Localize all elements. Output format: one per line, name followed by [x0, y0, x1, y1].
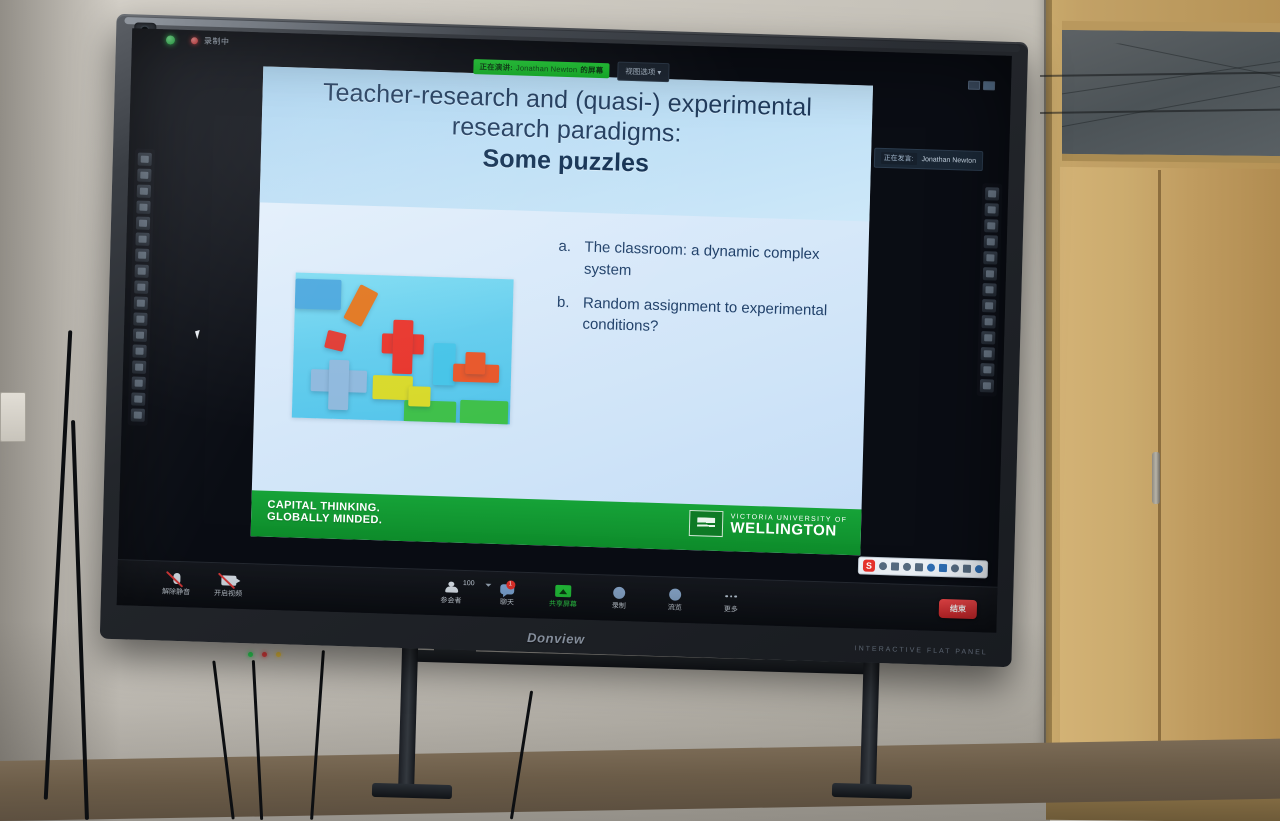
door-transom-window	[1062, 21, 1280, 163]
door-handle[interactable]	[1152, 452, 1160, 504]
puzzle-blocks-image	[292, 273, 514, 425]
ime-logo-icon[interactable]: S	[863, 560, 875, 572]
view-options-button[interactable]: 视图选项 ▾	[617, 62, 669, 83]
select-icon[interactable]	[983, 251, 997, 264]
share-screen-button[interactable]: 共享屏幕	[548, 584, 579, 610]
page-icon[interactable]	[981, 347, 995, 360]
arrow-icon[interactable]	[983, 267, 997, 280]
speaker-view-icon[interactable]	[968, 81, 980, 90]
zoom-toolbar-left: 解除静音 开启视频	[161, 571, 244, 599]
participants-label: 参会者	[440, 595, 461, 606]
chat-button[interactable]: 1 聊天	[492, 582, 523, 608]
puzzle-block	[392, 320, 413, 375]
university-name: VICTORIA UNIVERSITY OF WELLINGTON	[730, 513, 847, 539]
chat-label: 聊天	[500, 597, 514, 607]
door-leaf[interactable]	[1060, 167, 1280, 809]
left-toolbar-rail[interactable]	[128, 148, 155, 426]
speaking-status-label: 正在发言:	[880, 152, 916, 165]
save-icon[interactable]	[133, 312, 147, 325]
pen-icon[interactable]	[135, 264, 149, 277]
more-button[interactable]: 更多	[716, 589, 747, 615]
tagline-line2: GLOBALLY MINDED.	[267, 511, 382, 527]
text-icon[interactable]	[939, 564, 947, 572]
active-speaker-nametag: 正在发言: Jonathan Newton	[873, 148, 983, 171]
redo-icon[interactable]	[963, 565, 971, 573]
eraser-icon[interactable]	[915, 563, 923, 571]
university-crest-icon	[689, 510, 724, 537]
reactions-icon	[667, 587, 684, 601]
grid-icon[interactable]	[980, 363, 994, 376]
pen-icon[interactable]	[985, 203, 999, 216]
brand-logo: Donview	[527, 630, 585, 647]
shape-icon[interactable]	[927, 564, 935, 572]
chat-badge: 1	[506, 580, 515, 589]
zoom-toolbar-center: 100 参会者 1 聊天	[436, 580, 747, 615]
brand-sublabel: INTERACTIVE FLAT PANEL	[855, 645, 988, 656]
reactions-button[interactable]: 流览	[660, 587, 691, 613]
image-icon[interactable]	[982, 283, 996, 296]
bar-icon[interactable]	[131, 392, 145, 405]
camera-icon[interactable]	[134, 280, 148, 293]
microphone-muted-icon	[168, 572, 185, 586]
participants-icon: 100	[443, 580, 460, 594]
bullet-text: Random assignment to experimental condit…	[582, 292, 845, 344]
puzzle-block	[372, 375, 413, 400]
start-video-label: 开启视频	[214, 588, 242, 599]
speaker-name: Jonathan Newton	[921, 156, 976, 165]
interactive-flat-panel[interactable]: Donview INTERACTIVE FLAT PANEL 录制中 正在演讲:…	[100, 14, 1028, 667]
redo-icon[interactable]	[981, 331, 995, 344]
camera-off-icon	[220, 573, 237, 587]
pen-icon[interactable]	[891, 562, 899, 570]
door-frame-edge	[1044, 0, 1052, 792]
undo-icon[interactable]	[981, 315, 995, 328]
puzzle-block	[408, 386, 431, 407]
participants-count: 100	[463, 580, 475, 587]
eraser-icon[interactable]	[984, 219, 998, 232]
sharing-prefix: 正在演讲:	[479, 62, 513, 72]
puzzle-block	[465, 352, 486, 375]
stand-foot-right	[832, 783, 912, 799]
slide-bullet-list: a. The classroom: a dynamic complex syst…	[556, 236, 847, 356]
shared-slide: Teacher-research and (quasi-) experiment…	[251, 66, 873, 555]
puzzle-block	[460, 400, 509, 425]
wall-power-box	[0, 392, 26, 442]
window-icon[interactable]	[133, 328, 147, 341]
recording-icon[interactable]	[191, 37, 198, 44]
text-icon[interactable]	[132, 344, 146, 357]
capture-icon[interactable]	[137, 185, 151, 198]
eraser-icon[interactable]	[135, 248, 149, 261]
chat-icon: 1	[499, 582, 516, 596]
slide-footer: CAPITAL THINKING. GLOBALLY MINDED. VICTO…	[251, 490, 862, 555]
led-red	[262, 652, 267, 657]
clear-icon[interactable]	[975, 565, 983, 573]
return-icon[interactable]	[138, 153, 152, 166]
person-icon[interactable]	[134, 296, 148, 309]
record-button[interactable]: 录制	[604, 585, 635, 611]
move-icon[interactable]	[136, 201, 150, 214]
pen-icon[interactable]	[135, 232, 149, 245]
record-label: 录制	[612, 601, 626, 611]
sharing-presenter: Jonathan Newton	[516, 63, 578, 74]
puzzle-block	[328, 360, 349, 411]
grid-icon[interactable]	[132, 360, 146, 373]
panel-icon[interactable]	[131, 408, 145, 421]
puzzle-block	[324, 330, 347, 352]
select-icon[interactable]	[879, 562, 887, 570]
stand-foot-left	[372, 783, 452, 799]
start-video-button[interactable]: 开启视频	[213, 573, 244, 599]
unmute-button[interactable]: 解除静音	[161, 571, 192, 597]
participants-button[interactable]: 100 参会者	[436, 580, 467, 606]
more-icon	[722, 589, 739, 603]
slide-title: Teacher-research and (quasi-) experiment…	[289, 77, 845, 185]
university-logo: VICTORIA UNIVERSITY OF WELLINGTON	[689, 510, 847, 541]
highlighter-icon[interactable]	[903, 563, 911, 571]
share-screen-label: 共享屏幕	[549, 599, 577, 610]
list-icon[interactable]	[132, 376, 146, 389]
bullet-text: The classroom: a dynamic complex system	[584, 237, 847, 289]
university-name-large: WELLINGTON	[730, 520, 847, 539]
puzzle-block	[295, 279, 342, 310]
chevron-down-icon[interactable]	[485, 584, 491, 587]
undo-icon[interactable]	[951, 564, 959, 572]
sharing-banner-text: 正在演讲:Jonathan Newton的屏幕	[473, 59, 609, 78]
menu-icon[interactable]	[985, 187, 999, 200]
sharing-suffix: 的屏幕	[580, 65, 603, 75]
mouse-cursor	[195, 330, 202, 339]
pen-icon[interactable]	[136, 217, 150, 230]
share-screen-icon	[555, 584, 572, 598]
bullet-marker: b.	[556, 291, 571, 335]
connection-status-icon	[166, 35, 175, 44]
led-amber	[276, 652, 281, 657]
record-icon	[611, 586, 628, 600]
layer-icon[interactable]	[982, 299, 996, 312]
view-mode-buttons[interactable]	[968, 81, 995, 91]
display-screen[interactable]: 录制中 正在演讲:Jonathan Newton的屏幕 视图选项 ▾ 正在发言:…	[117, 28, 1012, 632]
zoom-toolbar-right: 结束	[939, 599, 977, 619]
unmute-label: 解除静音	[162, 586, 190, 597]
more-label: 更多	[724, 604, 738, 614]
panel-icon[interactable]	[980, 379, 994, 392]
reactions-label: 流览	[668, 602, 682, 612]
list-item: a. The classroom: a dynamic complex syst…	[558, 236, 847, 289]
right-toolbar-rail[interactable]	[977, 183, 1003, 397]
bulb-icon[interactable]	[137, 169, 151, 182]
list-item: b. Random assignment to experimental con…	[556, 291, 845, 344]
puzzle-block	[343, 284, 378, 327]
led-green	[248, 652, 253, 657]
bullet-marker: a.	[558, 236, 573, 280]
gallery-view-icon[interactable]	[983, 81, 995, 90]
annotation-toolbar[interactable]: S	[858, 556, 988, 578]
room-scene: Donview INTERACTIVE FLAT PANEL 录制中 正在演讲:…	[0, 0, 1280, 821]
shape-icon[interactable]	[984, 235, 998, 248]
university-tagline: CAPITAL THINKING. GLOBALLY MINDED.	[267, 499, 383, 527]
recording-label: 录制中	[204, 35, 230, 47]
end-meeting-button[interactable]: 结束	[939, 599, 977, 619]
